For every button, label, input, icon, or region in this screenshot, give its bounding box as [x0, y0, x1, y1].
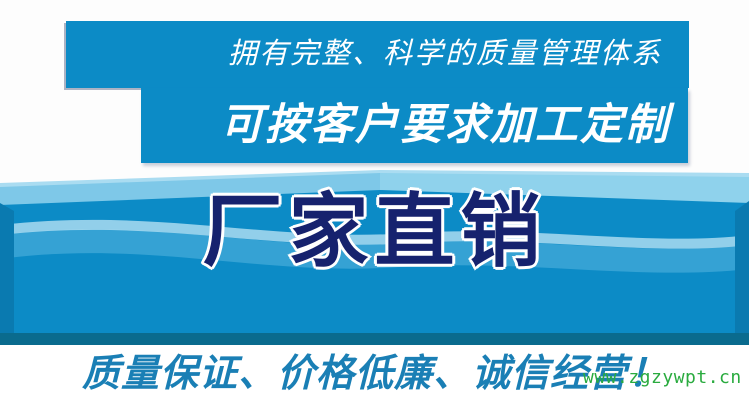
wave-bottom-strip [0, 333, 749, 345]
tagline-box-secondary: 可按客户要求加工定制 [141, 88, 688, 163]
site-watermark: www.zgzywpt.cn [583, 367, 742, 388]
tagline-secondary-text: 可按客户要求加工定制 [220, 104, 688, 147]
promotional-banner: 拥有完整、科学的质量管理体系 可按客户要求加工定制 厂家直销 质量保证、价格低廉… [0, 0, 749, 405]
main-headline: 厂家直销 [0, 192, 749, 272]
tagline-primary-text: 拥有完整、科学的质量管理体系 [228, 40, 689, 69]
tagline-box-primary: 拥有完整、科学的质量管理体系 [66, 21, 689, 88]
